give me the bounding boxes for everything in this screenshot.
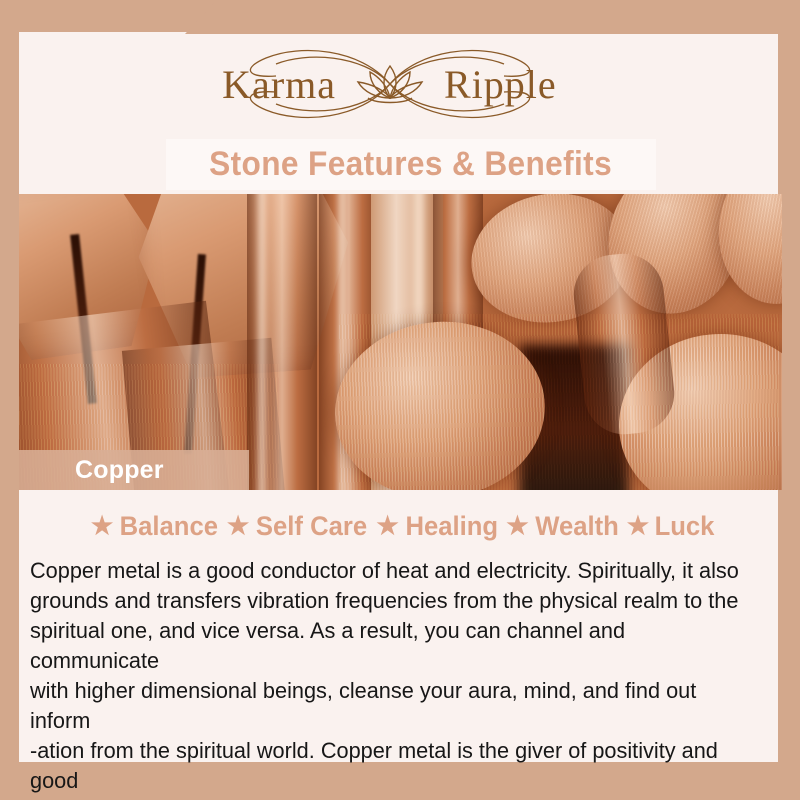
logo-artwork: Karma Ripple <box>180 36 600 132</box>
feature-healing: ★ Healing <box>370 511 500 542</box>
highlight-sheen <box>255 194 269 490</box>
description-line: Copper metal is a good conductor of heat… <box>30 556 742 586</box>
frame-left-bar <box>0 32 19 762</box>
description-line: -ation from the spiritual world. Copper … <box>30 736 742 796</box>
star-icon: ★ <box>91 514 113 539</box>
star-icon: ★ <box>506 514 528 539</box>
feature-label: Balance <box>120 511 218 542</box>
description-line: grounds and transfers vibration frequenc… <box>30 586 742 616</box>
star-icon: ★ <box>227 514 249 539</box>
feature-self-care: ★ Self Care <box>221 511 370 542</box>
brand-logo: Karma Ripple <box>0 34 780 134</box>
feature-label: Luck <box>655 511 715 542</box>
feature-wealth: ★ Wealth <box>500 511 620 542</box>
feature-label: Healing <box>405 511 498 542</box>
frame-right-bar <box>782 32 800 762</box>
frame-top-bar <box>0 0 800 34</box>
feature-label: Wealth <box>535 511 619 542</box>
logo-word-karma: Karma <box>222 62 336 107</box>
title-banner: Stone Features & Benefits <box>166 139 656 190</box>
feature-luck: ★ Luck <box>621 511 716 542</box>
description-line: spiritual one, and vice versa. As a resu… <box>30 616 742 676</box>
page-title: Stone Features & Benefits <box>210 145 613 184</box>
star-icon: ★ <box>627 514 649 539</box>
stone-name: Copper <box>75 456 164 485</box>
description-line: -ness, as well as the bringer of good lu… <box>30 796 742 800</box>
infographic-page: Karma Ripple Stone Features & Benefits <box>0 0 800 800</box>
hero-image <box>19 194 782 490</box>
description-block: Copper metal is a good conductor of heat… <box>30 556 742 800</box>
feature-label: Self Care <box>256 511 367 542</box>
features-row: ★ Balance ★ Self Care ★ Healing ★ Wealth… <box>19 505 782 547</box>
description-line: with higher dimensional beings, cleanse … <box>30 676 742 736</box>
brushed-texture <box>339 314 779 490</box>
feature-balance: ★ Balance <box>85 511 221 542</box>
star-icon: ★ <box>376 514 398 539</box>
logo-word-ripple: Ripple <box>444 62 557 107</box>
stone-name-banner: Copper <box>19 450 249 490</box>
